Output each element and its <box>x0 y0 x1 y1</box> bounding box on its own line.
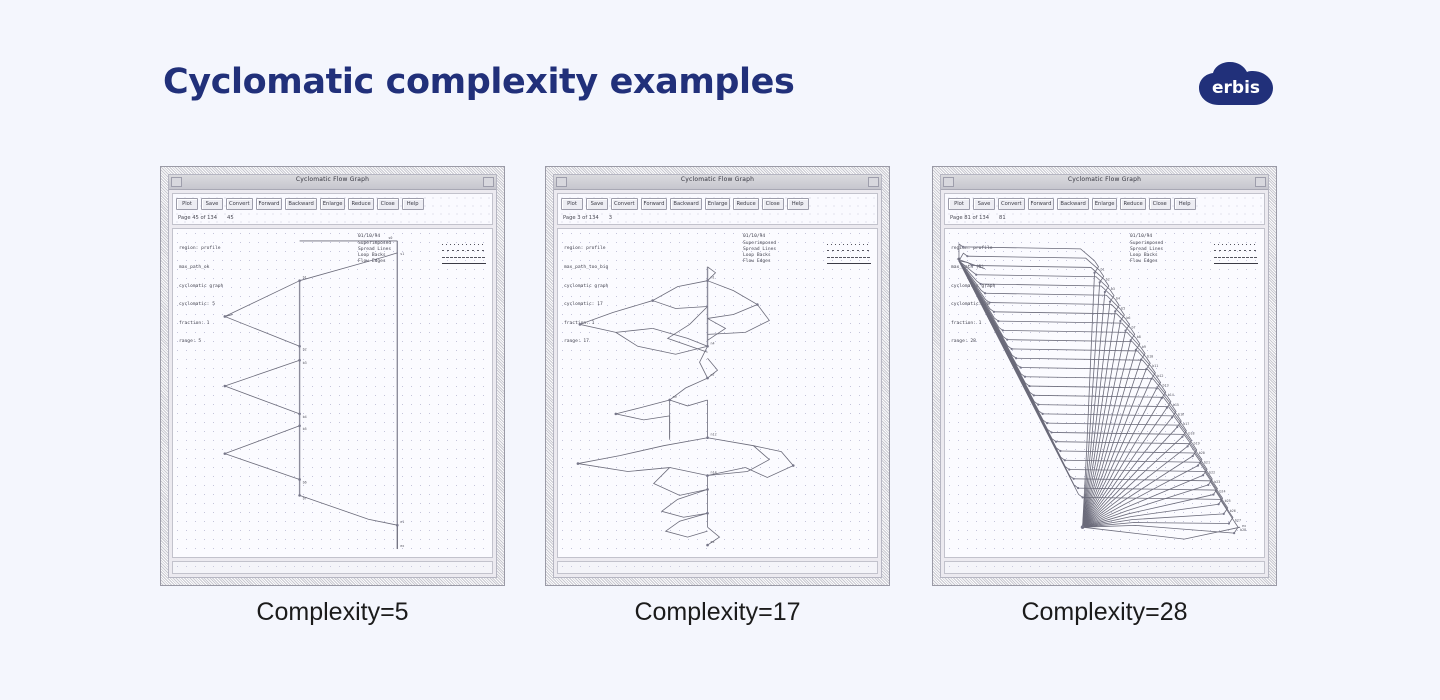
window-titlebar[interactable]: Cyclomatic Flow Graph <box>554 175 881 190</box>
erbis-logo: erbis <box>1198 61 1274 107</box>
window-inner: Cyclomatic Flow Graph Plot Save Convert … <box>940 174 1269 578</box>
toolbar-button-plot[interactable]: Plot <box>176 198 198 210</box>
svg-text:b20: b20 <box>1199 451 1205 455</box>
page-label: Page 45 of 134 <box>178 215 217 221</box>
graph-canvas[interactable]: region: profile max_path (N) cyclomatic … <box>944 228 1265 558</box>
page-indicator: Page 81 of 13481 <box>948 214 1261 222</box>
window-titlebar[interactable]: Cyclomatic Flow Graph <box>941 175 1268 190</box>
svg-text:b24: b24 <box>1219 490 1225 494</box>
page-number: 45 <box>227 215 234 221</box>
svg-text:b4: b4 <box>303 415 307 419</box>
svg-text:b2: b2 <box>1106 277 1110 281</box>
toolbar-button-forward[interactable]: Forward <box>641 198 668 210</box>
window-frame: Cyclomatic Flow Graph Plot Save Convert … <box>160 166 505 586</box>
window-toolbox: Plot Save Convert Forward Backward Enlar… <box>172 193 493 225</box>
svg-text:b25: b25 <box>1225 499 1231 503</box>
examples-row: Cyclomatic Flow Graph Plot Save Convert … <box>0 166 1440 646</box>
page-label: Page 3 of 134 <box>563 215 599 221</box>
graph-canvas[interactable]: region: profile max_path_too_big cycloma… <box>557 228 878 558</box>
toolbar-button-backward[interactable]: Backward <box>285 198 316 210</box>
example-complexity-5: Cyclomatic Flow Graph Plot Save Convert … <box>160 166 505 586</box>
svg-text:b6: b6 <box>303 480 307 484</box>
toolbar-button-reduce[interactable]: Reduce <box>733 198 758 210</box>
window-inner: Cyclomatic Flow Graph Plot Save Convert … <box>168 174 497 578</box>
svg-text:e1: e1 <box>400 520 404 524</box>
svg-text:b10: b10 <box>1147 355 1153 359</box>
svg-text:b28: b28 <box>1240 528 1246 532</box>
graph-canvas[interactable]: region: profile max_path_ok cyclomatic g… <box>172 228 493 558</box>
window-titlebar[interactable]: Cyclomatic Flow Graph <box>169 175 496 190</box>
svg-text:b27: b27 <box>1235 519 1241 523</box>
svg-text:b18: b18 <box>1188 432 1194 436</box>
svg-text:b23: b23 <box>1214 480 1220 484</box>
svg-text:b5: b5 <box>1121 306 1125 310</box>
page-label: Page 81 of 134 <box>950 215 989 221</box>
page-title: Cyclomatic complexity examples <box>163 62 794 102</box>
toolbar-button-help[interactable]: Help <box>1174 198 1196 210</box>
window-title: Cyclomatic Flow Graph <box>941 176 1268 183</box>
svg-text:b6: b6 <box>1126 316 1130 320</box>
toolbar: Plot Save Convert Forward Backward Enlar… <box>948 198 1261 210</box>
svg-text:n9: n9 <box>673 395 677 399</box>
page-header: Cyclomatic complexity examples erbis <box>0 0 1440 150</box>
toolbar-button-help[interactable]: Help <box>402 198 424 210</box>
toolbar-button-enlarge[interactable]: Enlarge <box>705 198 731 210</box>
toolbar-button-close[interactable]: Close <box>377 198 399 210</box>
window-toolbox: Plot Save Convert Forward Backward Enlar… <box>944 193 1265 225</box>
example-caption: Complexity=17 <box>545 598 890 627</box>
svg-text:b12: b12 <box>1157 374 1163 378</box>
svg-text:b19: b19 <box>1194 441 1200 445</box>
svg-text:s1: s1 <box>400 252 404 256</box>
example-complexity-28: Cyclomatic Flow Graph Plot Save Convert … <box>932 166 1277 586</box>
svg-text:b22: b22 <box>1209 470 1215 474</box>
svg-text:b17: b17 <box>1183 422 1189 426</box>
toolbar-button-save[interactable]: Save <box>973 198 995 210</box>
svg-text:ex: ex <box>400 544 404 548</box>
toolbar-button-close[interactable]: Close <box>1149 198 1171 210</box>
toolbar-button-backward[interactable]: Backward <box>1057 198 1088 210</box>
toolbar: Plot Save Convert Forward Backward Enlar… <box>561 198 874 210</box>
toolbar-button-plot[interactable]: Plot <box>948 198 970 210</box>
svg-text:n12: n12 <box>711 433 717 437</box>
svg-text:b11: b11 <box>1152 364 1158 368</box>
toolbar-button-save[interactable]: Save <box>586 198 608 210</box>
svg-text:b3: b3 <box>303 361 307 365</box>
svg-text:ex: ex <box>1242 524 1246 528</box>
toolbar-button-enlarge[interactable]: Enlarge <box>320 198 346 210</box>
toolbar-button-backward[interactable]: Backward <box>670 198 701 210</box>
svg-text:b21: b21 <box>1204 461 1210 465</box>
svg-text:n4: n4 <box>711 341 715 345</box>
example-caption: Complexity=5 <box>160 598 505 627</box>
svg-text:b8: b8 <box>1137 335 1141 339</box>
page-indicator: Page 3 of 1343 <box>561 214 874 222</box>
toolbar-button-help[interactable]: Help <box>787 198 809 210</box>
window-statusbar <box>172 561 493 574</box>
toolbar-button-close[interactable]: Close <box>762 198 784 210</box>
svg-text:b3: b3 <box>1111 287 1115 291</box>
toolbar-button-save[interactable]: Save <box>201 198 223 210</box>
window-statusbar <box>557 561 878 574</box>
window-frame: Cyclomatic Flow Graph Plot Save Convert … <box>545 166 890 586</box>
page-number: 3 <box>609 215 612 221</box>
flow-graph-drawing-complexity-17: n1 n4 n7 n9 n12 n14 ex <box>558 229 877 557</box>
example-caption: Complexity=28 <box>932 598 1277 627</box>
svg-text:b2: b2 <box>303 347 307 351</box>
svg-text:n7: n7 <box>711 373 715 377</box>
svg-text:s0: s0 <box>388 236 392 240</box>
window-title: Cyclomatic Flow Graph <box>169 176 496 183</box>
window-inner: Cyclomatic Flow Graph Plot Save Convert … <box>553 174 882 578</box>
toolbar-button-enlarge[interactable]: Enlarge <box>1092 198 1118 210</box>
svg-text:n14: n14 <box>711 471 717 475</box>
toolbar-button-convert[interactable]: Convert <box>998 198 1025 210</box>
svg-text:b1: b1 <box>1101 268 1105 272</box>
svg-text:b1: b1 <box>303 276 307 280</box>
svg-text:b5: b5 <box>303 427 307 431</box>
window-title: Cyclomatic Flow Graph <box>554 176 881 183</box>
window-statusbar <box>944 561 1265 574</box>
svg-text:b7: b7 <box>303 496 307 500</box>
toolbar-button-plot[interactable]: Plot <box>561 198 583 210</box>
svg-text:b15: b15 <box>1173 403 1179 407</box>
svg-text:b26: b26 <box>1230 509 1236 513</box>
flow-graph-drawing-complexity-5: b1 b2 b3 b4 b5 b6 b7 e1 ex s1 s0 <box>173 229 492 557</box>
toolbar: Plot Save Convert Forward Backward Enlar… <box>176 198 489 210</box>
example-complexity-17: Cyclomatic Flow Graph Plot Save Convert … <box>545 166 890 586</box>
svg-text:b7: b7 <box>1132 326 1136 330</box>
svg-text:ex: ex <box>711 540 715 544</box>
svg-text:b13: b13 <box>1163 383 1169 387</box>
logo-text: erbis <box>1212 78 1260 98</box>
toolbar-button-convert[interactable]: Convert <box>226 198 253 210</box>
toolbar-button-convert[interactable]: Convert <box>611 198 638 210</box>
svg-text:b16: b16 <box>1178 412 1184 416</box>
page-number: 81 <box>999 215 1006 221</box>
svg-text:b14: b14 <box>1168 393 1174 397</box>
svg-text:b9: b9 <box>1142 345 1146 349</box>
toolbar-button-forward[interactable]: Forward <box>256 198 283 210</box>
window-toolbox: Plot Save Convert Forward Backward Enlar… <box>557 193 878 225</box>
svg-text:n1: n1 <box>711 276 715 280</box>
toolbar-button-forward[interactable]: Forward <box>1028 198 1055 210</box>
page-indicator: Page 45 of 13445 <box>176 214 489 222</box>
flow-graph-drawing-complexity-28: b1b2b3b4b5b6b7b8b9b10b11b12b13b14b15b16b… <box>945 229 1264 557</box>
toolbar-button-reduce[interactable]: Reduce <box>348 198 373 210</box>
window-frame: Cyclomatic Flow Graph Plot Save Convert … <box>932 166 1277 586</box>
svg-text:b4: b4 <box>1116 297 1120 301</box>
toolbar-button-reduce[interactable]: Reduce <box>1120 198 1145 210</box>
